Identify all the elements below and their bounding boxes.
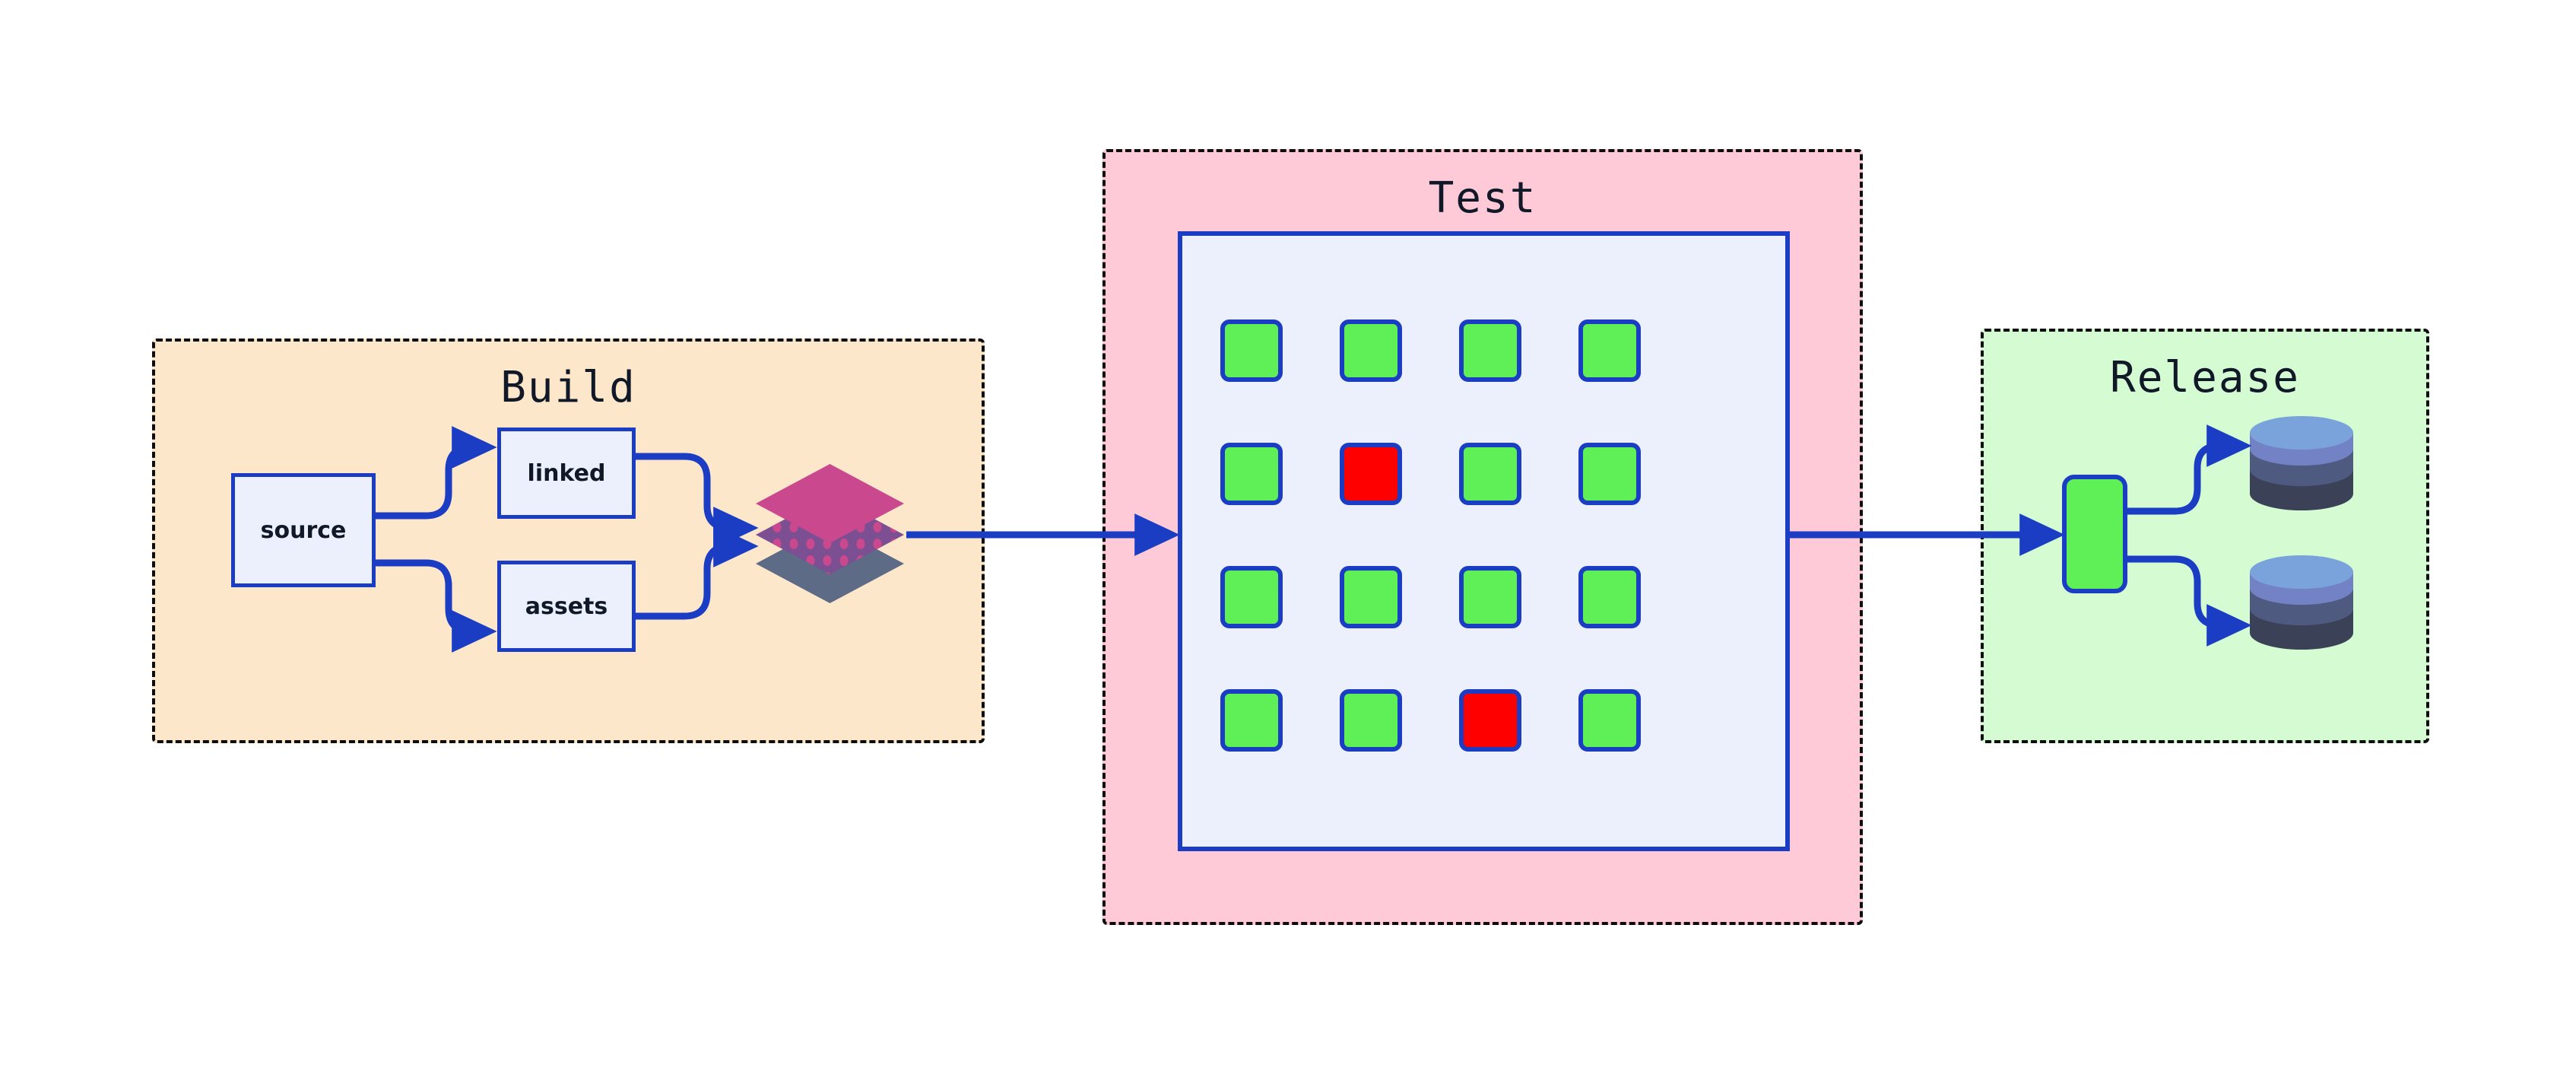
node-linked-label: linked <box>528 460 606 487</box>
group-test-title: Test <box>1106 173 1860 223</box>
test-cell-3-3-pass[interactable] <box>1459 566 1521 628</box>
group-build[interactable]: Build source linked <box>152 339 985 743</box>
test-cell-2-4-pass[interactable] <box>1578 443 1641 505</box>
diagram-canvas: Build source linked <box>0 0 2576 1068</box>
test-cell-2-3-pass[interactable] <box>1459 443 1521 505</box>
test-cell-4-2-pass[interactable] <box>1340 689 1402 752</box>
test-cell-4-3-fail[interactable] <box>1459 689 1521 752</box>
test-cell-2-2-fail[interactable] <box>1340 443 1402 505</box>
database-replica-icon[interactable] <box>2250 555 2353 650</box>
test-cell-2-1-pass[interactable] <box>1220 443 1283 505</box>
test-results-grid <box>1220 319 1756 768</box>
test-cell-3-1-pass[interactable] <box>1220 566 1283 628</box>
test-results-panel <box>1178 231 1790 851</box>
test-cell-3-2-pass[interactable] <box>1340 566 1402 628</box>
layer-stack-icon <box>752 452 908 615</box>
node-assets-label: assets <box>525 593 608 620</box>
deploy-node[interactable] <box>2062 475 2127 593</box>
database-primary-icon[interactable] <box>2250 416 2353 510</box>
node-assets[interactable]: assets <box>497 561 636 652</box>
test-cell-4-4-pass[interactable] <box>1578 689 1641 752</box>
node-source[interactable]: source <box>231 473 376 587</box>
node-source-label: source <box>261 517 347 544</box>
test-cell-1-2-pass[interactable] <box>1340 319 1402 382</box>
test-cell-1-4-pass[interactable] <box>1578 319 1641 382</box>
node-linked[interactable]: linked <box>497 428 636 519</box>
test-cell-4-1-pass[interactable] <box>1220 689 1283 752</box>
group-release-title: Release <box>1984 353 2426 402</box>
group-release[interactable]: Release <box>1981 329 2429 743</box>
group-test[interactable]: Test <box>1102 149 1863 925</box>
test-cell-1-1-pass[interactable] <box>1220 319 1283 382</box>
test-cell-1-3-pass[interactable] <box>1459 319 1521 382</box>
group-build-title: Build <box>155 363 982 412</box>
test-cell-3-4-pass[interactable] <box>1578 566 1641 628</box>
